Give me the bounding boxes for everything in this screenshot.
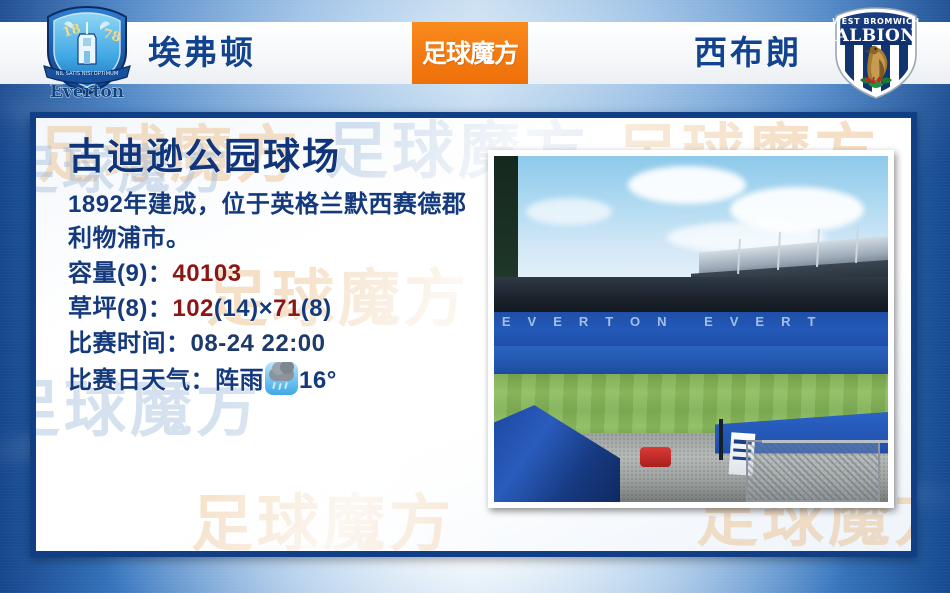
capacity-label: 容量(9)： [68, 260, 172, 287]
capacity-value: 40103 [172, 260, 241, 287]
watermark: 足球魔方 [191, 473, 455, 557]
weather-condition: 阵雨 [215, 367, 264, 394]
svg-text:Everton: Everton [50, 82, 124, 102]
photo-stand-lettering: EVERTON EVERT [502, 314, 880, 335]
everton-crest: 18 78 NIL SATIS NISI OPTIMUM Everton [34, 4, 140, 102]
pitch-times-symbol: × [259, 295, 274, 322]
stadium-info-panel: 足球魔方 足球魔方 足球魔方 足球魔方 足球魔方 足球魔方 足球魔方 足球魔方 … [30, 112, 917, 557]
kickoff-value: 08-24 22:00 [191, 330, 326, 357]
pitch-row: 草坪(8)：102(14)×71(8) [68, 292, 488, 327]
kickoff-row: 比赛时间：08-24 22:00 [68, 327, 488, 362]
weather-temperature: 16° [299, 367, 337, 394]
capacity-row: 容量(9)：40103 [68, 257, 488, 292]
west-bromwich-albion-crest: WEST BROMWICH ALBION [824, 4, 928, 102]
photo-red-equipment [640, 447, 672, 468]
photo-roof [494, 277, 888, 315]
weather-label: 比赛日天气： [68, 367, 215, 394]
brand-logo[interactable]: 足球魔方 [412, 22, 528, 84]
pitch-width-rank: (8) [301, 295, 332, 322]
pitch-length-rank: (14) [214, 295, 259, 322]
kickoff-label: 比赛时间： [68, 330, 191, 357]
stadium-title: 古迪逊公园球场 [68, 136, 488, 179]
stadium-info-block: 古迪逊公园球场 1892年建成，位于英格兰默西赛德郡利物浦市。 容量(9)：40… [68, 136, 488, 398]
home-team-name: 埃弗顿 [148, 22, 256, 84]
brand-logo-text: 足球魔方 [422, 41, 518, 66]
photo-pole [719, 419, 723, 461]
stadium-photo: EVERTON EVERT [494, 156, 888, 502]
pitch-width: 71 [273, 295, 301, 322]
rain-shower-icon [265, 362, 298, 395]
pitch-length: 102 [172, 295, 214, 322]
svg-text:NIL SATIS NISI OPTIMUM: NIL SATIS NISI OPTIMUM [56, 71, 119, 77]
photo-lower-stand [494, 346, 888, 377]
svg-text:ALBION: ALBION [835, 26, 917, 46]
photo-fence [746, 440, 880, 502]
stadium-photo-frame[interactable]: EVERTON EVERT [488, 150, 894, 508]
away-team-name: 西布朗 [694, 22, 802, 84]
photo-fence-rail [762, 440, 888, 443]
pitch-label: 草坪(8)： [68, 295, 172, 322]
svg-text:WEST BROMWICH: WEST BROMWICH [832, 17, 919, 26]
stadium-description: 1892年建成，位于英格兰默西赛德郡利物浦市。 [68, 188, 468, 258]
weather-row: 比赛日天气：阵雨 16° [68, 362, 488, 399]
photo-cloud [526, 198, 613, 226]
